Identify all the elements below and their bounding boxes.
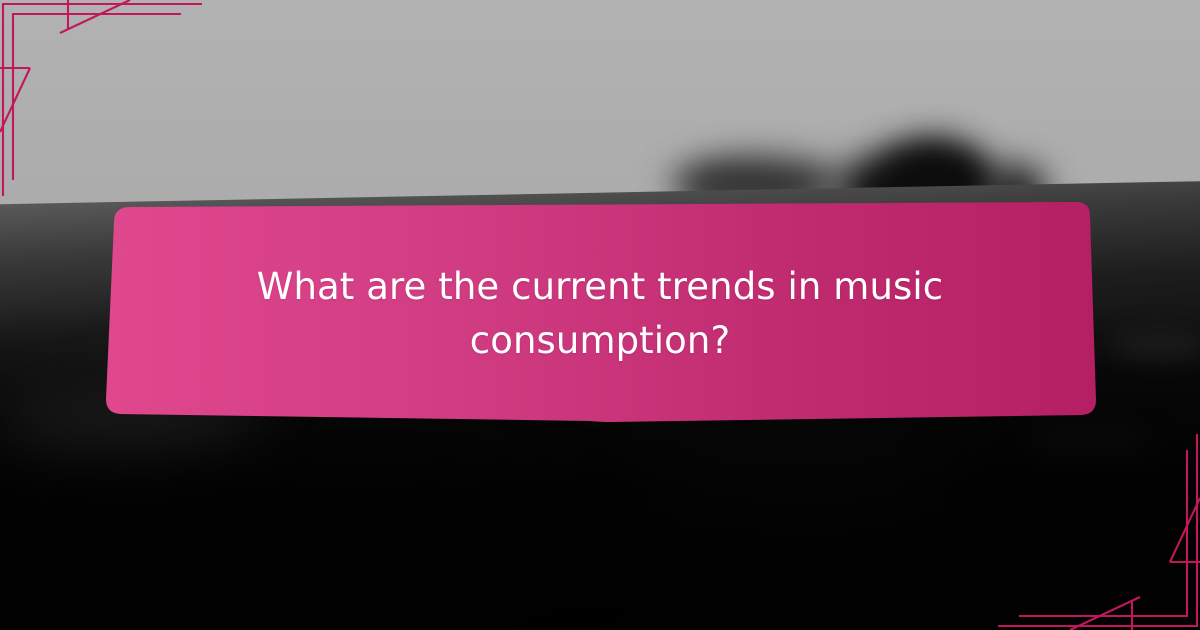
question-text: What are the current trends in music con… [100,200,1100,428]
social-card: What are the current trends in music con… [0,0,1200,630]
question-banner: What are the current trends in music con… [100,200,1100,428]
